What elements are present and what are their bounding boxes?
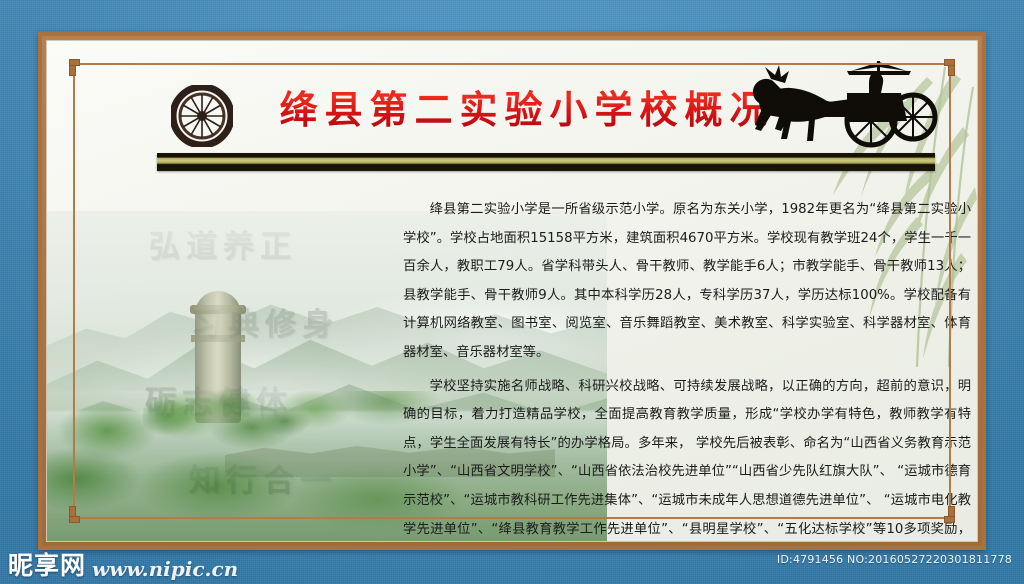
watermark-site-name: 昵享网 — [8, 546, 86, 582]
watermark-site-url: www.nipic.cn — [92, 557, 238, 582]
poster-outer-frame: 绛县第二实验小学校概况 绛县第二实验小学校概况 — [38, 32, 986, 550]
image-id-tag: ID:4791456 NO:20160527220301811778 — [777, 553, 1012, 566]
overview-paragraph-1: 绛县第二实验小学是一所省级示范小学。原名为东关小学，1982年更名为“绛县第二实… — [403, 196, 971, 368]
poster-stage: 绛县第二实验小学校概况 绛县第二实验小学校概况 — [0, 0, 1024, 584]
header-decorative-band — [157, 153, 935, 171]
overview-paragraph-2: 学校坚持实施名师战略、科研兴校战略、可持续发展战略，以正确的方向，超前的意识，明… — [403, 373, 971, 541]
poster-header: 绛县第二实验小学校概况 绛县第二实验小学校概况 — [47, 49, 977, 159]
horse-chariot-icon — [751, 59, 941, 151]
site-watermark: 昵享网 www.nipic.cn — [8, 546, 238, 582]
poster-inner-frame: 绛县第二实验小学校概况 绛县第二实验小学校概况 — [46, 40, 978, 542]
school-overview-text: 绛县第二实验小学是一所省级示范小学。原名为东关小学，1982年更名为“绛县第二实… — [403, 196, 971, 541]
poster-canvas: 绛县第二实验小学校概况 绛县第二实验小学校概况 — [47, 41, 977, 541]
